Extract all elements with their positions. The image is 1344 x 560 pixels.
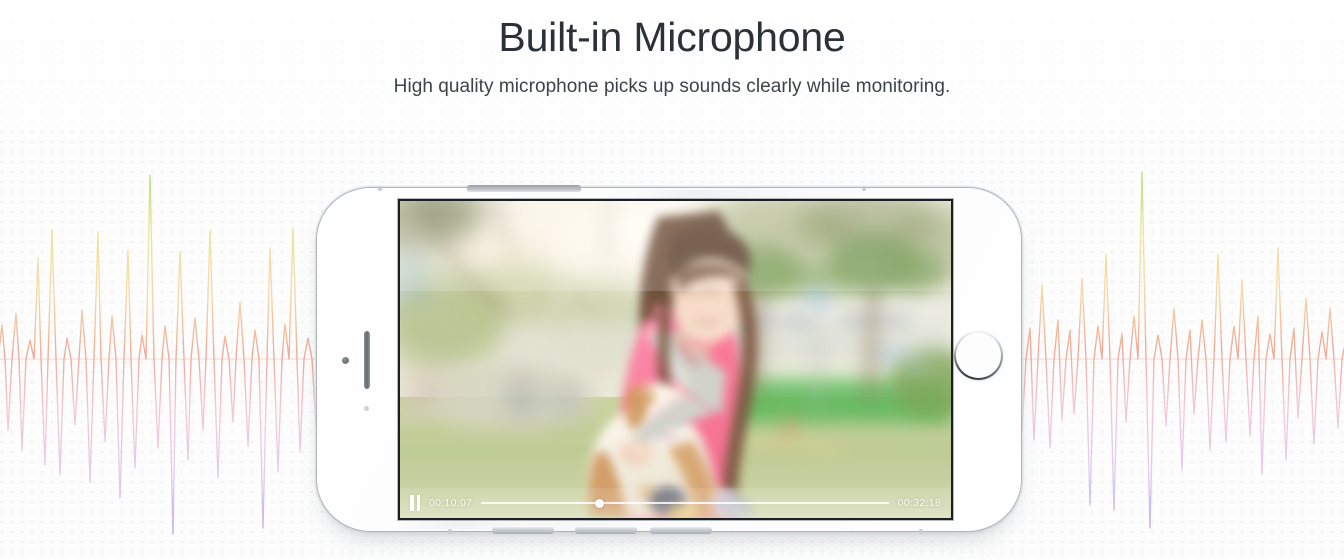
front-camera-icon: [342, 357, 349, 364]
audio-waveform-right: [1020, 130, 1344, 560]
volume-up-button[interactable]: [492, 527, 554, 534]
home-button[interactable]: [954, 331, 1003, 380]
page-subtitle: High quality microphone picks up sounds …: [0, 76, 1344, 98]
proximity-sensor-icon: [364, 406, 369, 411]
video-scene-artwork: [400, 201, 951, 518]
video-controls: 00:10:07 00:32:18: [400, 488, 951, 518]
antenna-line-top-right: [862, 186, 866, 191]
earpiece-speaker: [364, 331, 370, 389]
total-time-label: 00:32:18: [898, 497, 941, 509]
smartphone-mockup: 00:10:07 00:32:18: [317, 188, 1021, 531]
antenna-line-bottom-left: [448, 529, 452, 534]
power-button[interactable]: [650, 527, 712, 534]
progress-bar[interactable]: [481, 502, 888, 504]
audio-waveform-left: [0, 130, 330, 560]
video-frame: [400, 201, 951, 518]
page-title: Built-in Microphone: [0, 12, 1344, 62]
page-stage: Built-in Microphone High quality microph…: [0, 0, 1344, 560]
mute-switch[interactable]: [467, 185, 581, 192]
pause-bar-right: [417, 495, 421, 511]
volume-down-button[interactable]: [575, 527, 637, 534]
pause-bar-left: [410, 495, 414, 511]
header: Built-in Microphone High quality microph…: [0, 0, 1344, 98]
progress-thumb[interactable]: [595, 499, 604, 508]
current-time-label: 00:10:07: [429, 497, 472, 509]
pause-icon[interactable]: [410, 495, 420, 511]
antenna-line-top-left: [378, 186, 382, 191]
antenna-line-bottom-right: [919, 529, 923, 534]
video-screen[interactable]: 00:10:07 00:32:18: [400, 201, 951, 518]
